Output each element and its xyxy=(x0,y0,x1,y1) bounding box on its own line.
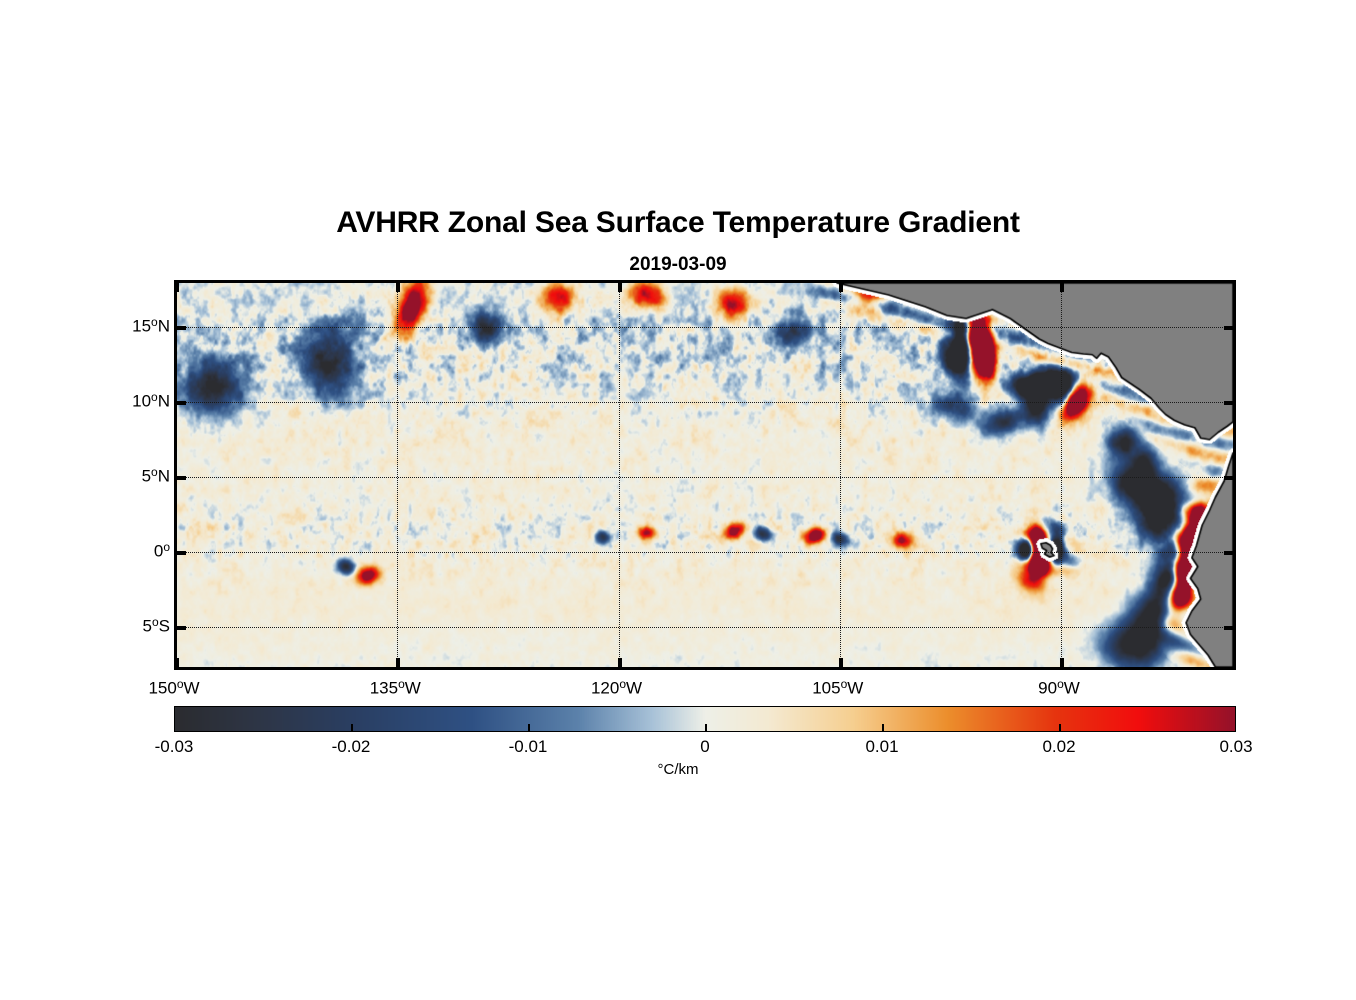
degree-symbol: o xyxy=(841,677,848,691)
y-tick-label-15°N: 15oN xyxy=(132,316,170,334)
x-tick-label-105°W: 105oW xyxy=(812,678,863,696)
degree-symbol: o xyxy=(177,677,184,691)
colorbar-tick-label-0.03: 0.03 xyxy=(1219,738,1252,755)
x-tick-label-135°W: 135oW xyxy=(370,678,421,696)
degree-symbol: o xyxy=(619,677,626,691)
colorbar xyxy=(174,706,1236,732)
figure-subtitle: 2019-03-09 xyxy=(0,254,1356,276)
x-tick-label-150°W: 150oW xyxy=(148,678,199,696)
degree-symbol: o xyxy=(151,390,158,404)
map-axes xyxy=(174,280,1236,670)
x-tick-label-90°W: 90oW xyxy=(1038,678,1080,696)
degree-symbol: o xyxy=(163,540,170,554)
colorbar-tick-label-0: 0 xyxy=(700,738,709,755)
y-tick-label-5°S: 5oS xyxy=(143,616,171,634)
y-tick-label-0°: 0o xyxy=(154,541,170,559)
colorbar-tick-label--0.01: -0.01 xyxy=(509,738,548,755)
sst-gradient-heatmap xyxy=(177,283,1233,667)
y-tick-label-10°N: 10oN xyxy=(132,391,170,409)
colorbar-tick-label--0.03: -0.03 xyxy=(155,738,194,755)
colorbar-tick-label-0.01: 0.01 xyxy=(865,738,898,755)
x-tick-label-120°W: 120oW xyxy=(591,678,642,696)
degree-symbol: o xyxy=(1057,677,1064,691)
colorbar-units-label: °C/km xyxy=(0,761,1356,778)
degree-symbol: o xyxy=(151,315,158,329)
y-tick-label-5°N: 5oN xyxy=(142,466,170,484)
figure-root: AVHRR Zonal Sea Surface Temperature Grad… xyxy=(0,0,1356,1000)
colorbar-tick-label-0.02: 0.02 xyxy=(1042,738,1075,755)
degree-symbol: o xyxy=(152,615,159,629)
degree-symbol: o xyxy=(151,465,158,479)
colorbar-gradient xyxy=(175,707,1235,731)
colorbar-tick-label--0.02: -0.02 xyxy=(332,738,371,755)
degree-symbol: o xyxy=(398,677,405,691)
figure-title: AVHRR Zonal Sea Surface Temperature Grad… xyxy=(0,206,1356,240)
